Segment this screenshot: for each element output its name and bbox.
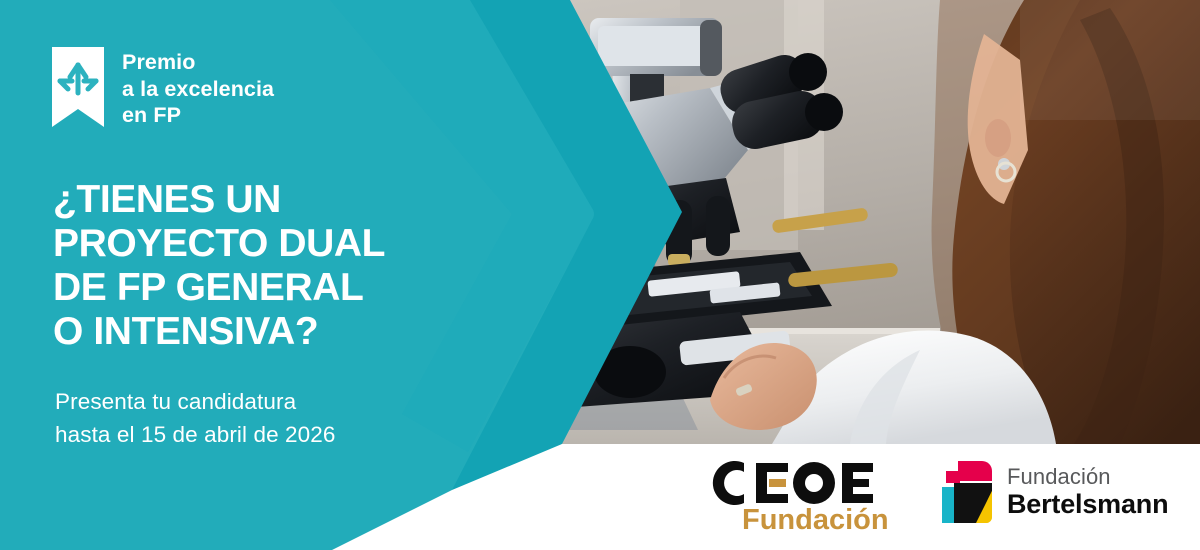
headline-line-4: O INTENSIVA? xyxy=(53,310,523,354)
page-title: ¿TIENES UN PROYECTO DUAL DE FP GENERAL O… xyxy=(53,178,523,354)
bertelsmann-top-word: Fundación xyxy=(1007,466,1168,488)
ceoe-fundacion-word: Fundación xyxy=(742,504,889,531)
bertelsmann-bottom-word: Bertelsmann xyxy=(1007,491,1168,518)
bertelsmann-wordmark: Fundación Bertelsmann xyxy=(1007,466,1168,518)
headline-line-3: DE FP GENERAL xyxy=(53,266,523,310)
award-line-3: en FP xyxy=(122,103,181,127)
award-line-1: Premio xyxy=(122,50,196,74)
ribbon-star-icon xyxy=(52,47,104,127)
footer-logos: Fundación xyxy=(690,443,1200,550)
award-logo-text: Premio a la excelencia en FP xyxy=(122,47,274,129)
subtitle-line-1: Presenta tu candidatura xyxy=(55,386,336,419)
subtitle-line-2: hasta el 15 de abril de 2026 xyxy=(55,419,336,452)
headline-line-1: ¿TIENES UN xyxy=(53,178,523,222)
subtitle: Presenta tu candidatura hasta el 15 de a… xyxy=(55,386,336,451)
ceoe-logo: Fundación xyxy=(712,459,902,531)
award-line-2: a la excelencia xyxy=(122,77,274,101)
bertelsmann-mark-icon xyxy=(938,459,994,525)
headline-line-2: PROYECTO DUAL xyxy=(53,222,523,266)
bertelsmann-logo: Fundación Bertelsmann xyxy=(938,459,1168,525)
promo-banner: Premio a la excelencia en FP ¿TIENES UN … xyxy=(0,0,1200,550)
award-logo: Premio a la excelencia en FP xyxy=(52,47,274,129)
